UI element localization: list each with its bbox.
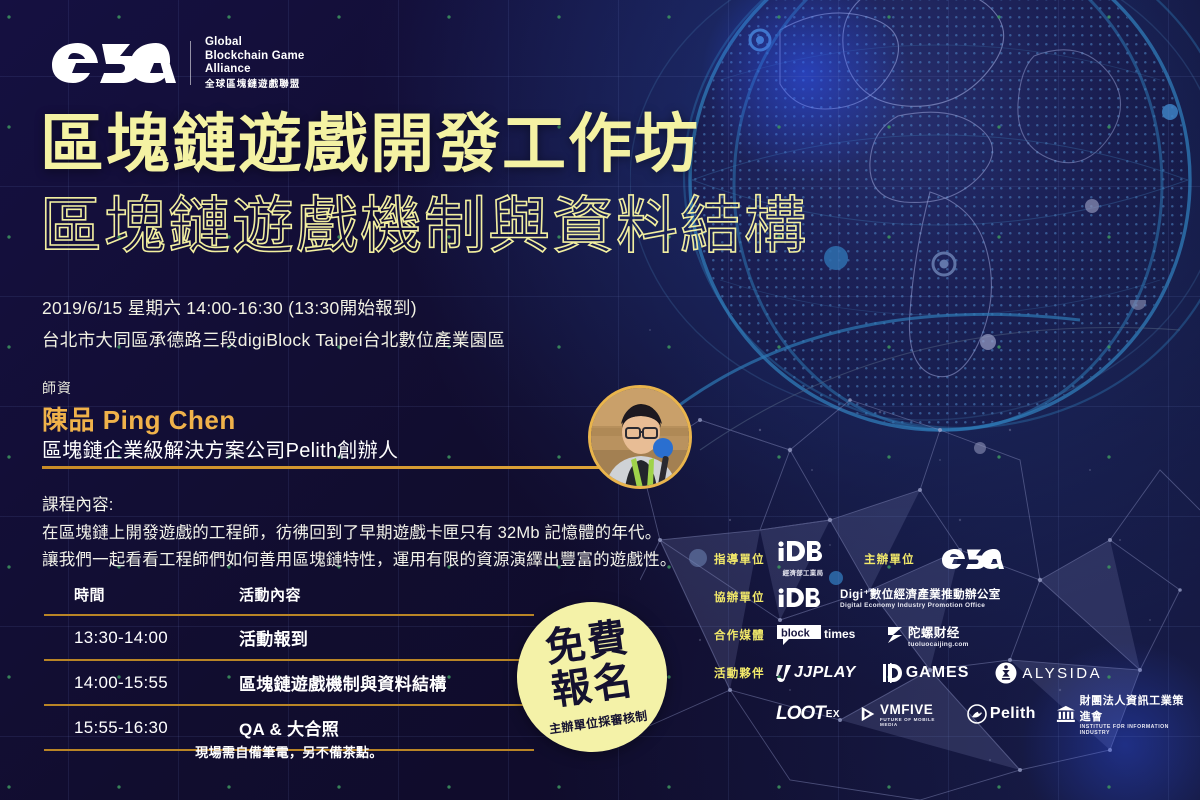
schedule-time: 14:00-15:55 <box>44 660 239 705</box>
sponsor-section: 指導單位 經濟部工業局 主辦單位 <box>714 540 1194 736</box>
digi-plus-title: Digi⁺數位經濟產業推動辦公室 <box>840 586 1001 602</box>
idb-logo-sub: 經濟部工業局 <box>776 567 830 577</box>
speaker-divider <box>42 466 649 469</box>
svg-text:block: block <box>781 628 811 640</box>
description-line-1: 在區塊鏈上開發遊戲的工程師，彷彿回到了早期遊戲卡匣只有 32Mb 記憶體的年代。 <box>42 520 677 548</box>
event-location: 台北市大同區承德路三段digiBlock Taipei台北數位產業園區 <box>42 324 505 356</box>
badge-line-2: 報名 <box>549 660 638 712</box>
blocktimes-logo-mark: block times <box>776 623 862 647</box>
alysida-logo: ALYSIDA <box>995 662 1102 684</box>
pelith-logo-mark <box>967 704 987 724</box>
lootex-text: LOOT <box>776 703 825 725</box>
sponsor-category-host: 主辦單位 <box>864 551 915 567</box>
digi-plus-subtitle: Digital Economy Industry Promotion Offic… <box>840 602 985 609</box>
idb-logo: 經濟部工業局 <box>776 541 830 577</box>
id-games-logo: GAMES <box>882 663 970 683</box>
alysida-text: ALYSIDA <box>1022 665 1102 682</box>
vmfive-logo-mark <box>860 705 876 723</box>
logo-text-block: Global Blockchain Game Alliance 全球區塊鏈遊戲聯… <box>205 36 305 90</box>
sponsor-row-partners: 活動夥伴 JJPLAY GAMES <box>714 654 1194 692</box>
schedule-header-row: 時間 活動內容 <box>44 584 534 615</box>
sponsor-row-partners-2: LOOT EX VMFIVE FUTURE OF MOBILE MEDIA <box>714 692 1194 736</box>
speaker-label: 師資 <box>42 378 72 398</box>
logo-cn-line: 全球區塊鏈遊戲聯盟 <box>205 79 305 90</box>
g3ga-logo-mark-small <box>935 547 1009 571</box>
idb-logo-2 <box>776 588 828 607</box>
tuoluocaijing-subtitle: tuoluocaijing.com <box>908 641 969 648</box>
lootex-suffix: EX <box>826 709 840 720</box>
vmfive-text: VMFIVE <box>880 702 947 717</box>
sponsor-row-coorganizer: 協辦單位 Digi⁺數位經濟產業推動辦公室 Digital Economy In… <box>714 578 1194 616</box>
sponsor-row-media: 合作媒體 block times 陀螺财经 tuoluocaijing.c <box>714 616 1194 654</box>
sponsor-row-guidance: 指導單位 經濟部工業局 主辦單位 <box>714 540 1194 578</box>
g3ga-logo: Global Blockchain Game Alliance 全球區塊鏈遊戲聯… <box>48 36 305 90</box>
poster-subtitle: 區塊鏈遊戲機制與資料結構 <box>40 196 808 258</box>
course-description: 課程內容: 在區塊鏈上開發遊戲的工程師，彷彿回到了早期遊戲卡匣只有 32Mb 記… <box>42 492 677 575</box>
table-row: 14:00-15:55 區塊鏈遊戲機制與資料結構 <box>44 660 534 705</box>
speaker-name: 陳品 Ping Chen <box>42 400 236 437</box>
jjplay-logo: JJPLAY <box>776 664 856 682</box>
jjplay-logo-mark <box>776 664 792 682</box>
id-games-text: GAMES <box>906 664 970 682</box>
sponsor-category-label: 指導單位 <box>714 551 776 567</box>
alysida-logo-mark <box>995 662 1017 684</box>
blocktimes-logo: block times <box>776 623 862 647</box>
idb-logo-mark-2 <box>776 588 828 607</box>
iii-logo: 財團法人資訊工業策進會 INSTITUTE FOR INFORMATION IN… <box>1056 692 1194 736</box>
iii-logo-mark <box>1056 704 1076 724</box>
jjplay-text: JJPLAY <box>794 664 856 682</box>
schedule-time: 13:30-14:00 <box>44 615 239 660</box>
g3ga-logo-mark <box>48 39 176 87</box>
lootex-logo: LOOT EX <box>776 703 840 725</box>
logo-divider <box>190 41 191 85</box>
event-meta: 2019/6/15 星期六 14:00-16:30 (13:30開始報到) 台北… <box>42 292 505 357</box>
description-line-2: 讓我們一起看看工程師們如何善用區塊鏈特性，運用有限的資源演繹出豐富的遊戲性。 <box>42 547 677 575</box>
event-datetime: 2019/6/15 星期六 14:00-16:30 (13:30開始報到) <box>42 292 505 324</box>
sponsor-category-label: 協辦單位 <box>714 589 776 605</box>
digi-plus-logo: Digi⁺數位經濟產業推動辦公室 Digital Economy Industr… <box>840 586 1001 609</box>
svg-text:times: times <box>824 627 856 641</box>
iii-title: 財團法人資訊工業策進會 <box>1080 692 1194 724</box>
logo-en-line1: Global <box>205 36 305 50</box>
description-heading: 課程內容: <box>42 492 677 520</box>
idb-logo-mark <box>776 541 830 561</box>
iii-subtitle: INSTITUTE FOR INFORMATION INDUSTRY <box>1080 724 1194 736</box>
poster-title: 區塊鏈遊戲開發工作坊 <box>40 112 700 176</box>
event-poster: Global Blockchain Game Alliance 全球區塊鏈遊戲聯… <box>0 0 1200 800</box>
logo-en-line3: Alliance <box>205 63 305 77</box>
table-row: 13:30-14:00 活動報到 <box>44 615 534 660</box>
vmfive-subtitle: FUTURE OF MOBILE MEDIA <box>880 717 947 727</box>
pelith-logo: Pelith <box>967 704 1036 724</box>
vmfive-logo: VMFIVE FUTURE OF MOBILE MEDIA <box>860 702 947 727</box>
tuoluocaijing-logo-mark <box>886 625 904 645</box>
tuoluocaijing-logo: 陀螺财经 tuoluocaijing.com <box>886 622 969 648</box>
schedule-header-activity: 活動內容 <box>239 584 534 615</box>
speaker-avatar <box>588 385 692 489</box>
pelith-text: Pelith <box>990 705 1036 723</box>
sponsor-category-label: 活動夥伴 <box>714 665 776 681</box>
speaker-role: 區塊鏈企業級解決方案公司Pelith創辦人 <box>42 434 398 463</box>
schedule-note: 現場需自備筆電，另不備茶點。 <box>44 742 534 761</box>
schedule-table: 時間 活動內容 13:30-14:00 活動報到 14:00-15:55 區塊鏈… <box>44 584 534 751</box>
schedule-header-time: 時間 <box>44 584 239 615</box>
schedule-activity: 區塊鏈遊戲機制與資料結構 <box>239 660 534 705</box>
logo-en-line2: Blockchain Game <box>205 50 305 64</box>
id-games-logo-mark <box>882 663 902 683</box>
tuoluocaijing-title: 陀螺财经 <box>908 622 969 641</box>
sponsor-category-label: 合作媒體 <box>714 627 776 643</box>
g3ga-logo-small <box>935 547 1009 571</box>
schedule-activity: 活動報到 <box>239 615 534 660</box>
